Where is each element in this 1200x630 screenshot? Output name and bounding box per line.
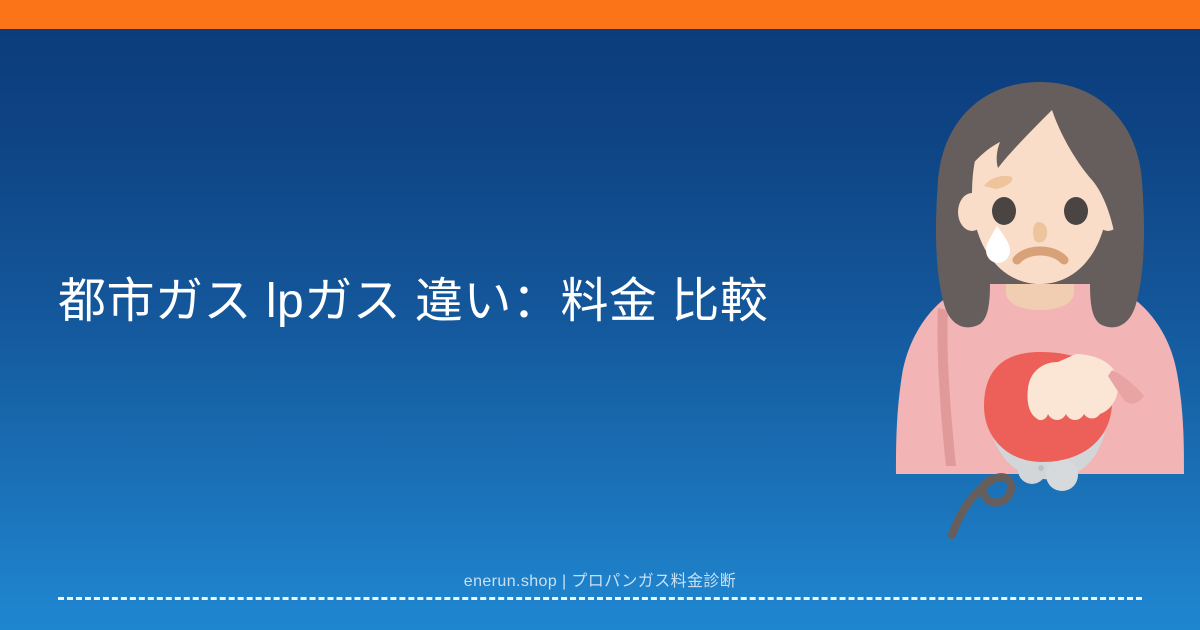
- top-accent-bar: [0, 0, 1200, 29]
- footer-site-label: enerun.shop | プロパンガス料金診断: [0, 570, 1200, 594]
- illustration-worried-woman-with-coin-purse: [880, 70, 1200, 540]
- ogp-card: 都市ガス lpガス 違い：料金 比較: [0, 0, 1200, 630]
- footer: enerun.shop | プロパンガス料金診断: [0, 570, 1200, 616]
- page-title: 都市ガス lpガス 違い：料金 比較: [58, 270, 858, 334]
- hair-strand-squiggle-shape: [952, 477, 1011, 535]
- footer-divider: [58, 597, 1142, 600]
